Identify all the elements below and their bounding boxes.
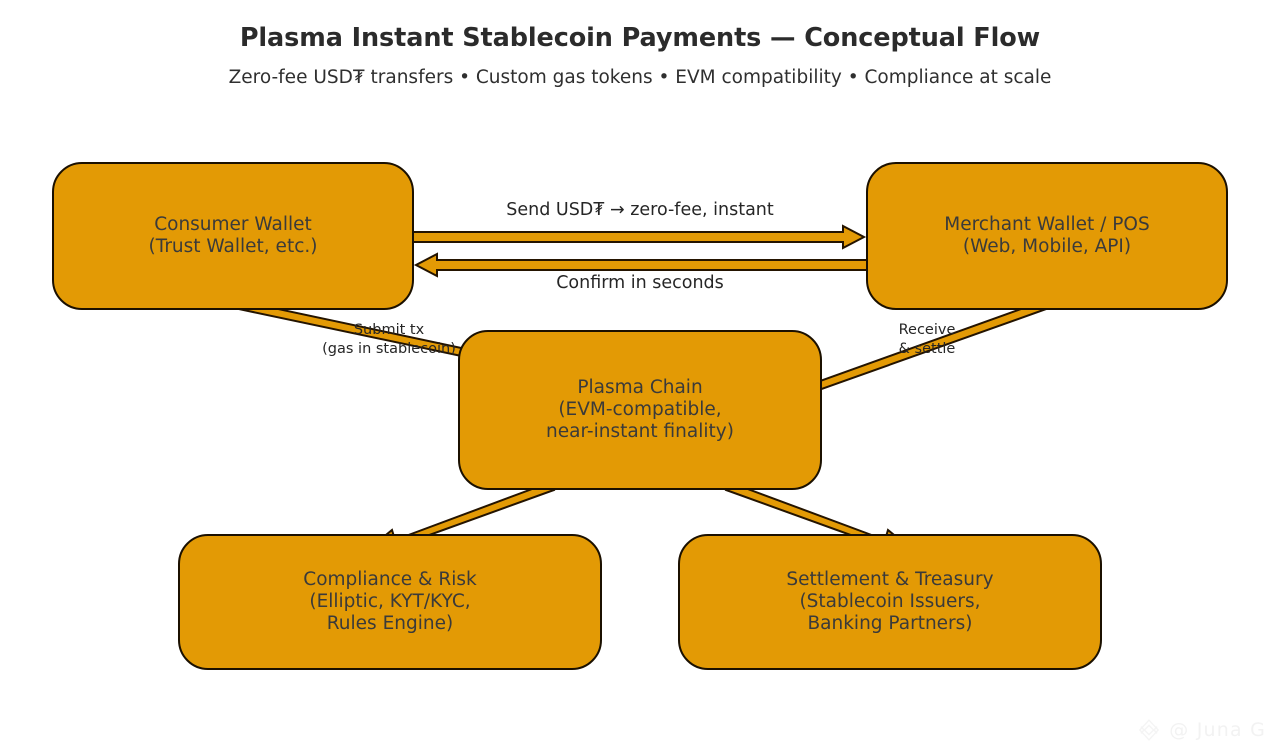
node-settlement-treasury[interactable]: Settlement & Treasury (Stablecoin Issuer…: [678, 534, 1102, 670]
diamond-logo-icon: [1136, 717, 1162, 743]
node-plasma-chain[interactable]: Plasma Chain (EVM-compatible, near-insta…: [458, 330, 822, 490]
diagram-canvas: Plasma Instant Stablecoin Payments — Con…: [0, 0, 1280, 753]
watermark: @ Juna G: [1136, 717, 1266, 743]
node-merchant-wallet[interactable]: Merchant Wallet / POS (Web, Mobile, API): [866, 162, 1228, 310]
watermark-handle: @ Juna G: [1169, 719, 1266, 741]
edge-send-usdt: [394, 226, 864, 248]
page-subtitle: Zero-fee USD₮ transfers • Custom gas tok…: [0, 67, 1280, 88]
page-title: Plasma Instant Stablecoin Payments — Con…: [0, 23, 1280, 53]
edge-confirm: [416, 254, 886, 276]
node-consumer-wallet[interactable]: Consumer Wallet (Trust Wallet, etc.): [52, 162, 414, 310]
node-compliance-risk[interactable]: Compliance & Risk (Elliptic, KYT/KYC, Ru…: [178, 534, 602, 670]
